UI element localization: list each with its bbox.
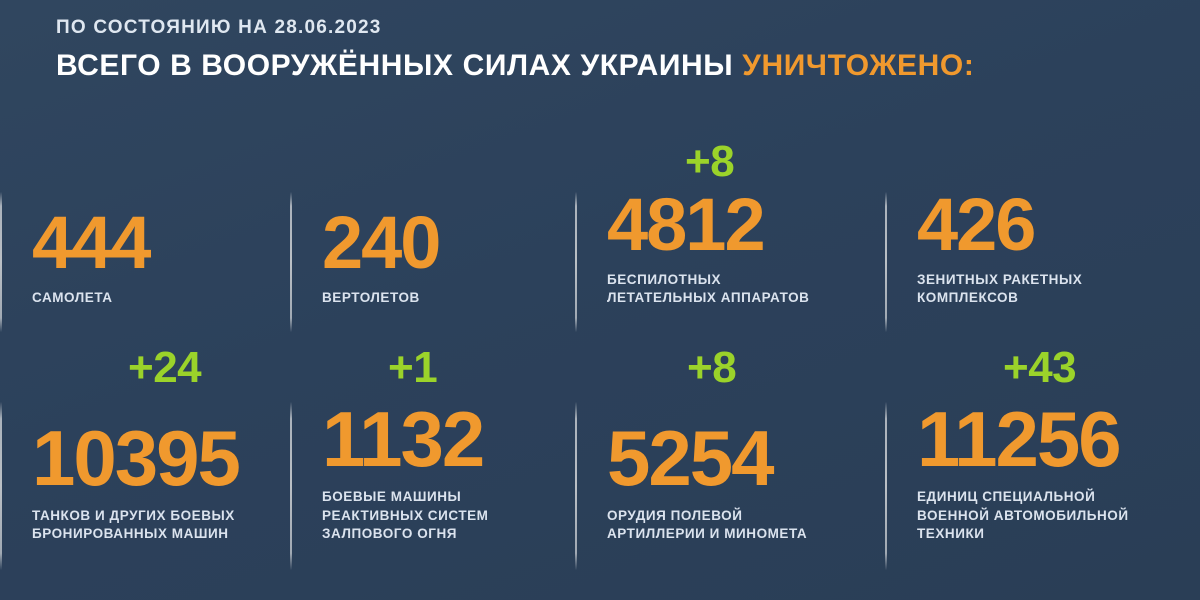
stats-row: +24 10395 ТАНКОВ И ДРУГИХ БОЕВЫХ БРОНИРО…: [0, 332, 1200, 572]
divider-rule: [290, 192, 292, 332]
stats-row: 444 САМОЛЕТА 240 ВЕРТОЛЕТОВ +8 4812 БЕСП…: [0, 120, 1200, 332]
divider-rule: [290, 402, 292, 570]
delta-badge: +8: [685, 140, 734, 184]
infographic-root: ПО СОСТОЯНИЮ НА 28.06.2023 ВСЕГО В ВООРУ…: [0, 0, 1200, 600]
page-title-main: ВСЕГО В ВООРУЖЁННЫХ СИЛАХ УКРАИНЫ: [56, 49, 733, 82]
stat-value: 10395: [32, 423, 290, 495]
stat-label-line: БРОНИРОВАННЫХ МАШИН: [32, 525, 290, 544]
stat-label: ЕДИНИЦ СПЕЦИАЛЬНОЙ ВОЕННОЙ АВТОМОБИЛЬНОЙ…: [917, 488, 1200, 544]
divider-rule: [575, 402, 577, 570]
stat-label-line: ТЕХНИКИ: [917, 525, 1200, 544]
stat-label: ЗЕНИТНЫХ РАКЕТНЫХ КОМПЛЕКСОВ: [917, 271, 1200, 308]
stat-card-aircraft: 444 САМОЛЕТА: [0, 120, 290, 332]
stat-label-line: КОМПЛЕКСОВ: [917, 289, 1200, 308]
stat-label-line: ОРУДИЯ ПОЛЕВОЙ: [607, 507, 885, 526]
stat-card-air-defense: 426 ЗЕНИТНЫХ РАКЕТНЫХ КОМПЛЕКСОВ: [885, 120, 1200, 332]
stat-value: 11256: [917, 404, 1200, 476]
stat-label-line: БОЕВЫЕ МАШИНЫ: [322, 488, 575, 507]
stat-label-line: ЛЕТАТЕЛЬНЫХ АППАРАТОВ: [607, 289, 885, 308]
stat-value: 240: [322, 209, 575, 277]
stat-value: 5254: [607, 423, 885, 495]
stat-value: 4812: [607, 191, 885, 259]
stat-label: БЕСПИЛОТНЫХ ЛЕТАТЕЛЬНЫХ АППАРАТОВ: [607, 271, 885, 308]
stat-label-line: ЗАЛПОВОГО ОГНЯ: [322, 525, 575, 544]
header: ПО СОСТОЯНИЮ НА 28.06.2023 ВСЕГО В ВООРУ…: [56, 18, 1180, 82]
page-title: ВСЕГО В ВООРУЖЁННЫХ СИЛАХ УКРАИНЫ УНИЧТО…: [56, 49, 1180, 83]
stat-label: ТАНКОВ И ДРУГИХ БОЕВЫХ БРОНИРОВАННЫХ МАШ…: [32, 507, 290, 544]
stat-card-military-vehicles: +43 11256 ЕДИНИЦ СПЕЦИАЛЬНОЙ ВОЕННОЙ АВТ…: [885, 332, 1200, 572]
stat-card-mlrs: +1 1132 БОЕВЫЕ МАШИНЫ РЕАКТИВНЫХ СИСТЕМ …: [290, 332, 575, 572]
divider-rule: [0, 402, 2, 570]
stat-label-line: РЕАКТИВНЫХ СИСТЕМ: [322, 507, 575, 526]
stats-grid: 444 САМОЛЕТА 240 ВЕРТОЛЕТОВ +8 4812 БЕСП…: [0, 120, 1200, 572]
stat-value: 1132: [322, 404, 575, 476]
delta-badge: +1: [388, 346, 437, 390]
stat-label-line: ЗЕНИТНЫХ РАКЕТНЫХ: [917, 271, 1200, 290]
report-date: ПО СОСТОЯНИЮ НА 28.06.2023: [56, 18, 1180, 39]
divider-rule: [575, 192, 577, 332]
delta-badge: +43: [1003, 346, 1076, 390]
stat-label-line: БЕСПИЛОТНЫХ: [607, 271, 885, 290]
stat-label-line: АРТИЛЛЕРИИ И МИНОМЕТА: [607, 525, 885, 544]
stat-value: 444: [32, 209, 290, 277]
divider-rule: [885, 192, 887, 332]
divider-rule: [885, 402, 887, 570]
page-title-accent: УНИЧТОЖЕНО:: [742, 49, 974, 82]
stat-label: ОРУДИЯ ПОЛЕВОЙ АРТИЛЛЕРИИ И МИНОМЕТА: [607, 507, 885, 544]
stat-card-helicopters: 240 ВЕРТОЛЕТОВ: [290, 120, 575, 332]
stat-label-line: САМОЛЕТА: [32, 289, 290, 308]
stat-label: САМОЛЕТА: [32, 289, 290, 308]
stat-label: ВЕРТОЛЕТОВ: [322, 289, 575, 308]
stat-card-uav: +8 4812 БЕСПИЛОТНЫХ ЛЕТАТЕЛЬНЫХ АППАРАТО…: [575, 120, 885, 332]
stat-label-line: ВЕРТОЛЕТОВ: [322, 289, 575, 308]
stat-value: 426: [917, 191, 1200, 259]
stat-card-artillery: +8 5254 ОРУДИЯ ПОЛЕВОЙ АРТИЛЛЕРИИ И МИНО…: [575, 332, 885, 572]
stat-label-line: ВОЕННОЙ АВТОМОБИЛЬНОЙ: [917, 507, 1200, 526]
divider-rule: [0, 192, 2, 332]
delta-badge: +8: [687, 346, 736, 390]
stat-label-line: ЕДИНИЦ СПЕЦИАЛЬНОЙ: [917, 488, 1200, 507]
stat-card-tanks: +24 10395 ТАНКОВ И ДРУГИХ БОЕВЫХ БРОНИРО…: [0, 332, 290, 572]
stat-label-line: ТАНКОВ И ДРУГИХ БОЕВЫХ: [32, 507, 290, 526]
stat-label: БОЕВЫЕ МАШИНЫ РЕАКТИВНЫХ СИСТЕМ ЗАЛПОВОГ…: [322, 488, 575, 544]
delta-badge: +24: [128, 346, 201, 390]
